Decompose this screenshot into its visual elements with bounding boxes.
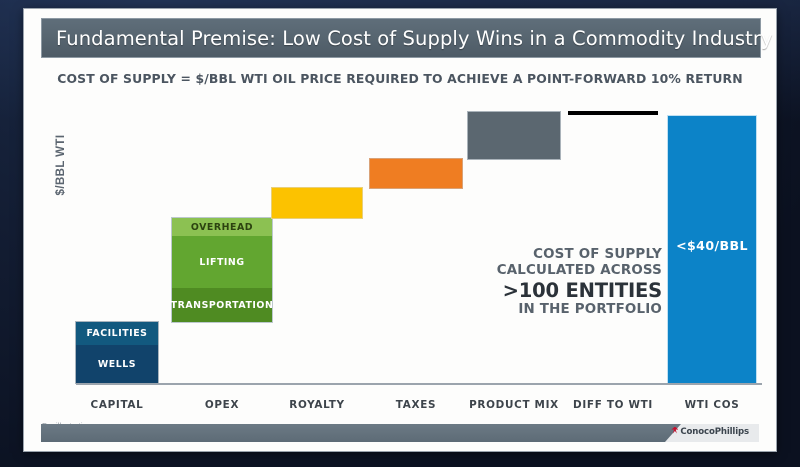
x-axis-category-labels: CAPITAL OPEX ROYALTY TAXES PRODUCT MIX D… (24, 399, 776, 419)
bar-segment-label: LIFTING (199, 257, 244, 268)
slide-screenshot: Fundamental Premise: Low Cost of Supply … (0, 0, 800, 467)
waterfall-chart: $/BBL WTI FACILITIES WELLS OVERHEAD LIFT… (24, 9, 776, 451)
bar-segment-label: FACILITIES (87, 328, 148, 339)
annotation-line-3: >100 ENTITIES (444, 279, 662, 302)
bar-segment-lifting: LIFTING (172, 236, 272, 288)
slide-footer: ConocoPhillips (41, 424, 759, 442)
x-axis-label-royalty: ROYALTY (272, 399, 362, 411)
bar-diff-to-wti-marker (568, 111, 658, 115)
bar-royalty (272, 188, 362, 218)
bar-opex: OVERHEAD LIFTING TRANSPORTATION (172, 218, 272, 322)
bar-segment-facilities: FACILITIES (76, 322, 158, 345)
x-axis-label-capital: CAPITAL (76, 399, 158, 411)
x-axis-label-product-mix: PRODUCT MIX (464, 399, 564, 411)
bar-segment-transportation: TRANSPORTATION (172, 288, 272, 322)
x-axis-label-diff-to-wti: DIFF TO WTI (564, 399, 662, 411)
bar-wti-cos: <$40/BBL (668, 116, 756, 383)
bar-capital: FACILITIES WELLS (76, 322, 158, 383)
y-axis-label: $/BBL WTI (55, 100, 67, 230)
bar-product-mix (468, 112, 560, 159)
bar-segment-label: WELLS (98, 359, 136, 370)
x-axis-line (76, 383, 762, 385)
logo-mark-icon (671, 427, 678, 434)
annotation-line-4: IN THE PORTFOLIO (444, 302, 662, 318)
logo-text: ConocoPhillips (680, 427, 749, 437)
x-axis-label-wti-cos: WTI COS (668, 399, 756, 411)
annotation-line-1: COST OF SUPPLY (444, 247, 662, 263)
bar-segment-overhead: OVERHEAD (172, 218, 272, 236)
bar-segment-label: OVERHEAD (191, 222, 253, 233)
x-axis-label-taxes: TAXES (370, 399, 462, 411)
x-axis-label-opex: OPEX (172, 399, 272, 411)
bar-segment-wells: WELLS (76, 345, 158, 383)
bar-segment-label: TRANSPORTATION (171, 300, 274, 311)
bar-taxes (370, 159, 462, 188)
conocophillips-logo: ConocoPhillips (671, 427, 749, 437)
slide-canvas: Fundamental Premise: Low Cost of Supply … (24, 9, 776, 451)
annotation-line-2: CALCULATED ACROSS (444, 263, 662, 279)
chart-annotation: COST OF SUPPLY CALCULATED ACROSS >100 EN… (444, 247, 662, 317)
bar-value-label: <$40/BBL (668, 238, 756, 253)
footer-band (41, 424, 681, 442)
